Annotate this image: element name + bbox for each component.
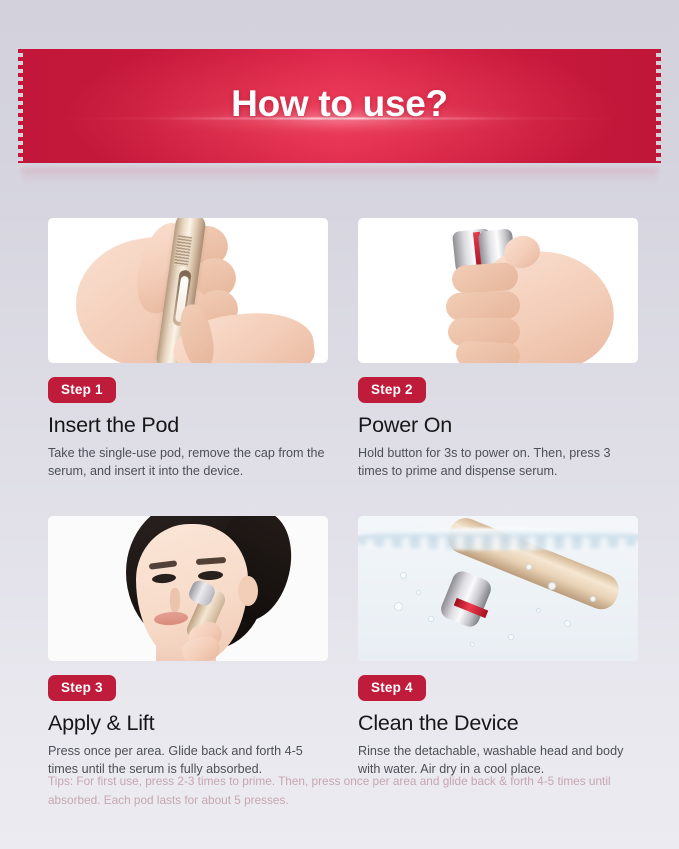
banner-serration-right xyxy=(656,49,661,163)
header-banner: How to use? xyxy=(18,49,661,163)
step-1-badge: Step 1 xyxy=(48,377,116,403)
steps-grid: Step 1 Insert the Pod Take the single-us… xyxy=(48,218,638,779)
page-title: How to use? xyxy=(18,83,661,125)
tips-note: Tips: For first use, press 2-3 times to … xyxy=(48,772,648,810)
step-card-1: Step 1 Insert the Pod Take the single-us… xyxy=(48,218,328,480)
step-4-image xyxy=(358,516,638,661)
step-2-description: Hold button for 3s to power on. Then, pr… xyxy=(358,445,638,481)
step-card-4: Step 4 Clean the Device Rinse the detach… xyxy=(358,516,638,778)
step-3-badge: Step 3 xyxy=(48,675,116,701)
step-1-title: Insert the Pod xyxy=(48,413,328,438)
step-2-title: Power On xyxy=(358,413,638,438)
step-1-image xyxy=(48,218,328,363)
step-3-title: Apply & Lift xyxy=(48,711,328,736)
finger-shape-icon xyxy=(455,340,520,363)
finger-shape-icon xyxy=(451,262,519,295)
step-4-badge: Step 4 xyxy=(358,675,426,701)
banner-surface: How to use? xyxy=(18,49,661,163)
step-4-title: Clean the Device xyxy=(358,711,638,736)
nose-icon xyxy=(170,588,180,612)
step-card-3: Step 3 Apply & Lift Press once per area.… xyxy=(48,516,328,778)
step-card-2: Step 2 Power On Hold button for 3s to po… xyxy=(358,218,638,480)
finger-shape-icon xyxy=(446,291,521,322)
step-1-description: Take the single-use pod, remove the cap … xyxy=(48,445,328,481)
banner-reflection xyxy=(22,168,658,184)
step-2-badge: Step 2 xyxy=(358,377,426,403)
step-2-image xyxy=(358,218,638,363)
step-3-image xyxy=(48,516,328,661)
